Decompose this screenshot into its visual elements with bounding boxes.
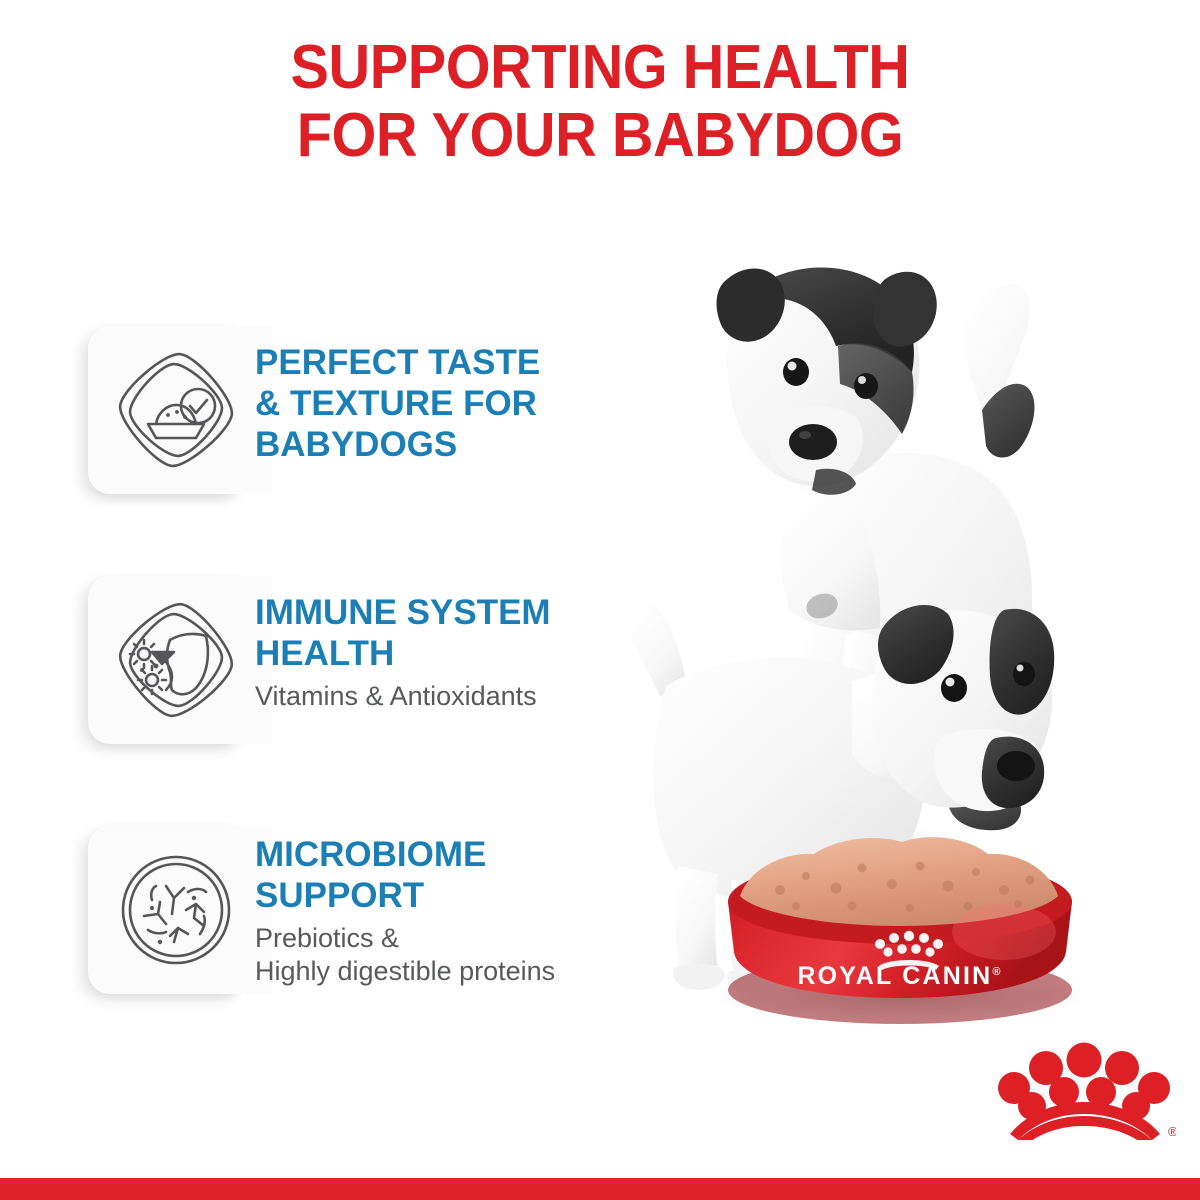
feature-item-immune-system: IMMUNE SYSTEM HEALTH Vitamins & Antioxid… (0, 568, 640, 818)
feature-list: PERFECT TASTE & TEXTURE FOR BABYDOGS (0, 318, 640, 1068)
feature-text: IMMUNE SYSTEM HEALTH Vitamins & Antioxid… (255, 592, 635, 713)
dog-photo: ROYAL CANIN® (600, 190, 1200, 1070)
feature-text: PERFECT TASTE & TEXTURE FOR BABYDOGS (255, 342, 635, 471)
bowl-brand-text: ROYAL CANIN® (797, 962, 1002, 990)
feature-item-perfect-taste: PERFECT TASTE & TEXTURE FOR BABYDOGS (0, 318, 640, 568)
trademark-symbol: ® (1168, 1124, 1176, 1139)
feature-item-microbiome: MICROBIOME SUPPORT Prebiotics & Highly d… (0, 818, 640, 1068)
feature-heading: PERFECT TASTE & TEXTURE FOR BABYDOGS (255, 342, 635, 465)
feature-heading: IMMUNE SYSTEM HEALTH (255, 592, 635, 674)
feature-subtext: Vitamins & Antioxidants (255, 680, 635, 713)
royal-canin-crown-logo: ® (996, 1030, 1176, 1140)
page-title: SUPPORTING HEALTH FOR YOUR BABYDOG (42, 34, 1158, 170)
feature-subtext: Prebiotics & Highly digestible proteins (255, 922, 635, 988)
food-bowl: ROYAL CANIN® (728, 837, 1072, 1024)
shield-germs-icon (108, 592, 244, 728)
bowl-check-icon (108, 342, 244, 478)
microbiome-petri-icon (108, 842, 244, 978)
feature-heading: MICROBIOME SUPPORT (255, 834, 635, 916)
dog-photo-illustration: ROYAL CANIN® (600, 190, 1200, 1070)
royal-canin-benefits-banner: SUPPORTING HEALTH FOR YOUR BABYDOG (0, 0, 1200, 1200)
bottom-red-bar (0, 1178, 1200, 1200)
feature-text: MICROBIOME SUPPORT Prebiotics & Highly d… (255, 834, 635, 988)
